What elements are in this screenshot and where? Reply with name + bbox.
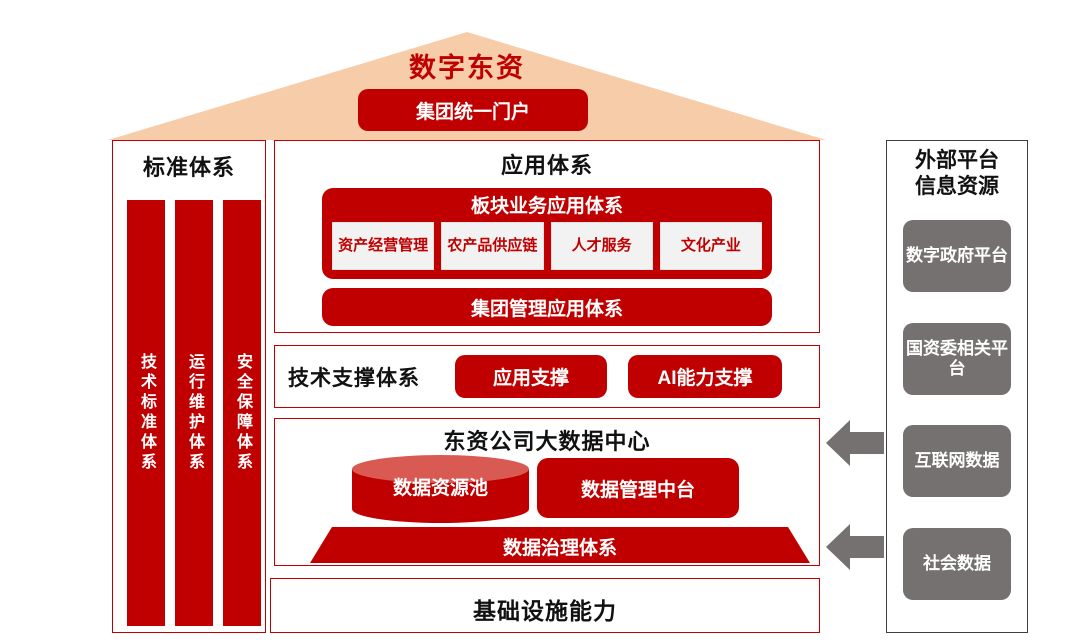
sector-chip-agri-supply-chain[interactable]: 农产品供应链: [441, 222, 543, 270]
portal-button[interactable]: 集团统一门户: [358, 89, 588, 131]
sector-chip-asset-management[interactable]: 资产经营管理: [332, 222, 434, 270]
data-resource-pool-label[interactable]: 数据资源池: [352, 473, 529, 500]
data-inflow-arrow-top-icon: [826, 420, 884, 466]
data-center-title: 东资公司大数据中心: [274, 424, 820, 456]
data-inflow-arrow-bottom-icon: [826, 524, 884, 570]
application-title: 应用体系: [274, 148, 820, 180]
data-management-platform-button[interactable]: 数据管理中台: [537, 458, 739, 518]
external-item-internet-data[interactable]: 互联网数据: [903, 425, 1011, 497]
external-item-sasac-platform[interactable]: 国资委相关平台: [903, 323, 1011, 395]
pillar-operations-maintenance[interactable]: 运行维护体系: [175, 200, 213, 626]
external-item-social-data[interactable]: 社会数据: [903, 528, 1011, 600]
infrastructure-title: 基础设施能力: [270, 592, 820, 626]
external-title-line-2: 信息资源: [886, 174, 1028, 200]
external-title-line-1: 外部平台: [886, 148, 1028, 174]
application-support-button[interactable]: 应用支撑: [455, 355, 607, 398]
pillar-technical-standards[interactable]: 技术标准体系: [127, 200, 165, 626]
ai-capability-support-button[interactable]: AI能力支撑: [628, 355, 782, 398]
tech-support-title: 技术支撑体系: [288, 362, 420, 392]
page-title: 数字东资: [108, 46, 826, 85]
external-item-digital-government[interactable]: 数字政府平台: [903, 220, 1011, 292]
external-platform-title: 外部平台 信息资源: [886, 148, 1028, 201]
data-governance-label[interactable]: 数据治理体系: [310, 533, 810, 560]
standards-title: 标准体系: [112, 150, 266, 182]
pillar-security-assurance[interactable]: 安全保障体系: [223, 200, 261, 626]
architecture-diagram: 数字东资 集团统一门户 标准体系 技术标准体系 运行维护体系 安全保障体系 应用…: [0, 0, 1072, 643]
sector-chip-talent-services[interactable]: 人才服务: [551, 222, 653, 270]
sector-business-chip-list: 资产经营管理 农产品供应链 人才服务 文化产业: [332, 222, 762, 270]
group-management-application-button[interactable]: 集团管理应用体系: [322, 288, 772, 326]
sector-business-group-title: 板块业务应用体系: [322, 191, 772, 218]
sector-chip-cultural-industry[interactable]: 文化产业: [660, 222, 762, 270]
